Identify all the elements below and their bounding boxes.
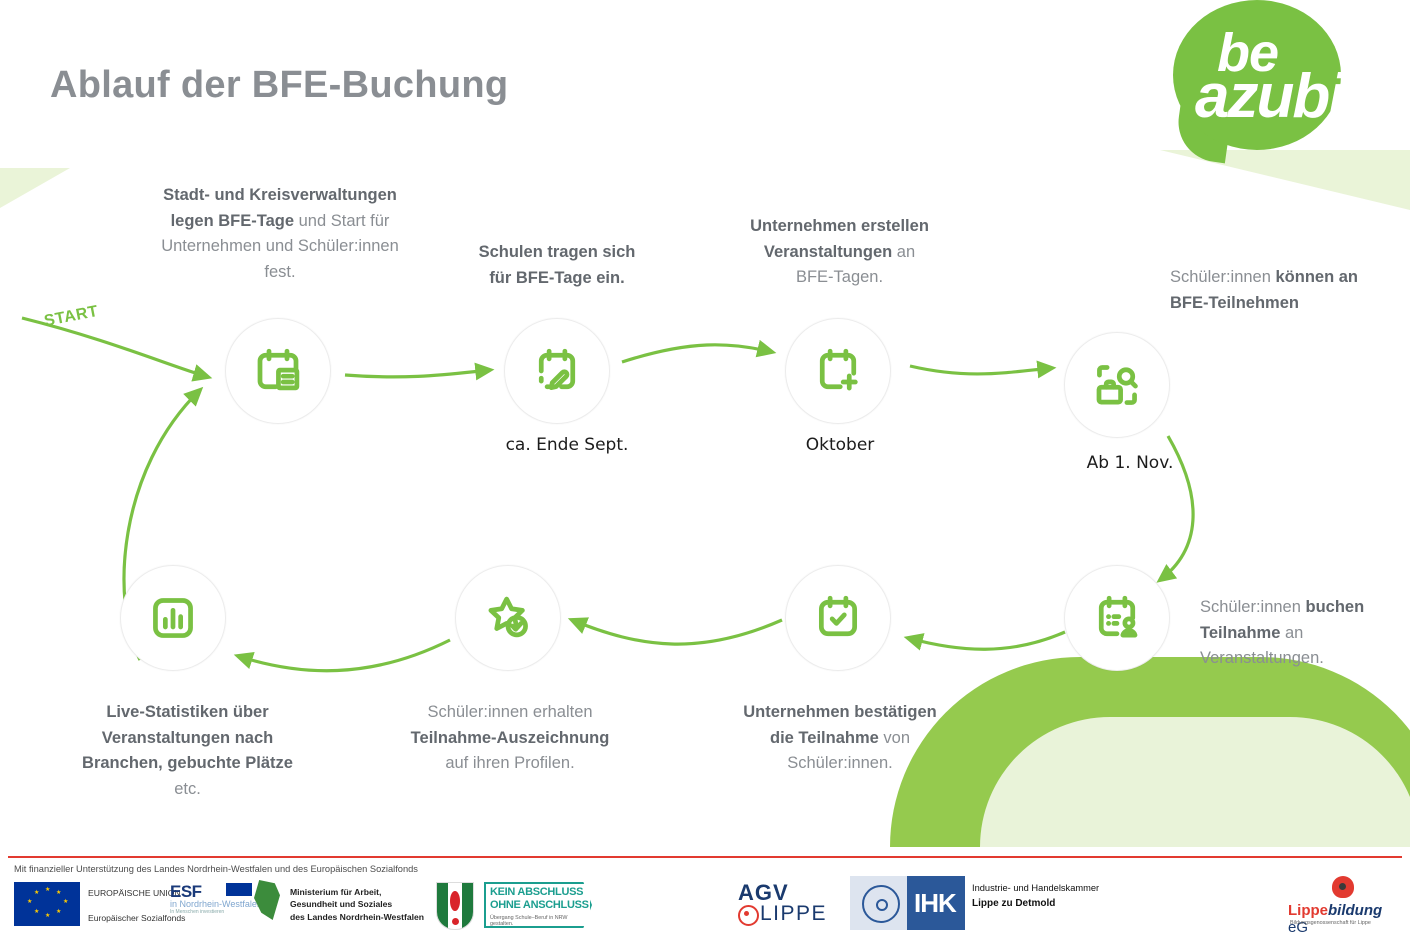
calendar-person-icon	[1090, 591, 1144, 645]
bar-chart-icon	[146, 591, 200, 645]
eu-flag-icon: ★ ★ ★ ★ ★ ★ ★ ★	[14, 882, 80, 926]
kein-line1: KEIN ABSCHLUSS	[490, 886, 583, 898]
decor-triangle-top-left	[0, 168, 70, 208]
be-azubi-logo: be azubi	[1155, 0, 1395, 171]
kein-abschluss-logo: KEIN ABSCHLUSS OHNE ANSCHLUSS Übergang S…	[484, 882, 592, 928]
kein-line2: OHNE ANSCHLUSS	[490, 899, 589, 911]
lippe-bildung-logo: Lippebildung eG Bildungsgenossenschaft f…	[1288, 878, 1400, 928]
eu-stars: ★ ★ ★ ★ ★ ★ ★ ★	[14, 882, 80, 926]
footer: Mit finanzieller Unterstützung des Lande…	[0, 858, 1410, 933]
nrw-green-left	[437, 883, 448, 929]
caption-step-1: Stadt- und Kreisverwaltungenlegen BFE-Ta…	[120, 183, 440, 285]
nrw-coat-of-arms-icon	[436, 882, 474, 930]
flow-node-step-2[interactable]	[504, 318, 610, 424]
date-step-4: Ab 1. Nov.	[1045, 453, 1215, 473]
ihk-abbr: IHK	[914, 888, 956, 919]
logo-splash	[1333, 60, 1403, 122]
agv-rose-icon	[738, 905, 759, 926]
ihk-line1: Industrie- und Handelskammer	[972, 883, 1099, 893]
caption-step-4: Schüler:innen können anBFE-Teilnehmen	[1170, 265, 1405, 316]
caption-step-8: Live-Statistiken überVeranstaltungen nac…	[55, 700, 320, 802]
caption-step-7: Schüler:innen erhaltenTeilnahme-Auszeich…	[385, 700, 635, 777]
flow-node-step-3[interactable]	[785, 318, 891, 424]
ihk-label: Industrie- und Handelskammer Lippe zu De…	[972, 882, 1099, 911]
decor-arc-light	[980, 717, 1410, 847]
ihk-logo: IHK	[850, 876, 965, 930]
nrw-green-right	[462, 883, 473, 929]
calendar-list-icon	[251, 344, 305, 398]
ihk-line2: Lippe zu Detmold	[972, 898, 1055, 909]
esf-tag: In Menschen investieren	[170, 909, 275, 915]
nrw-rose	[452, 918, 459, 925]
logo-text-azubi: azubi	[1195, 66, 1343, 128]
flow-node-step-4[interactable]	[1064, 332, 1170, 438]
lippe-rose-icon	[1332, 876, 1354, 898]
flow-node-step-5[interactable]	[1064, 565, 1170, 671]
caption-step-5: Schüler:innen buchenTeilnahme anVeransta…	[1200, 595, 1410, 672]
start-label: START	[43, 303, 100, 331]
flow-node-step-7[interactable]	[455, 565, 561, 671]
caption-step-6: Unternehmen bestätigendie Teilnahme vonS…	[705, 700, 975, 777]
caption-step-3: Unternehmen erstellenVeranstaltungen anB…	[712, 214, 967, 291]
flow-node-step-6[interactable]	[785, 565, 891, 671]
slide: Ablauf der BFE-Buchung be azubi START	[0, 0, 1410, 933]
nrw-horse	[450, 891, 460, 911]
calendar-add-icon	[811, 344, 865, 398]
page-title: Ablauf der BFE-Buchung	[50, 64, 508, 107]
flow-node-step-1[interactable]	[225, 318, 331, 424]
esf-logo: ESF in Nordrhein-Westfalen In Menschen i…	[170, 882, 275, 928]
date-step-3: Oktober	[755, 435, 925, 455]
calendar-edit-icon	[530, 344, 584, 398]
kein-line3: Übergang Schule–Beruf in NRW gestalten.	[490, 915, 592, 927]
footer-note: Mit finanzieller Unterstützung des Lande…	[14, 864, 418, 874]
date-step-2: ca. Ende Sept.	[462, 435, 672, 455]
briefcase-search-icon	[1090, 358, 1144, 412]
calendar-check-icon	[811, 591, 865, 645]
lippe-line1: Lippebildung eG	[1288, 902, 1400, 936]
esf-flag-icon	[226, 883, 252, 896]
agv-lippe-logo: AGV LIPPE	[738, 880, 827, 926]
eu-label-union: EUROPÄISCHE UNION	[88, 888, 181, 898]
ministry-label: Ministerium für Arbeit,Gesundheit und So…	[290, 886, 424, 923]
caption-step-2: Schulen tragen sichfür BFE-Tage ein.	[432, 240, 682, 291]
flow-node-step-8[interactable]	[120, 565, 226, 671]
ihk-wheel-icon	[862, 885, 900, 923]
star-check-icon	[481, 591, 535, 645]
lippe-line2: Bildungsgenossenschaft für Lippe	[1290, 920, 1371, 926]
